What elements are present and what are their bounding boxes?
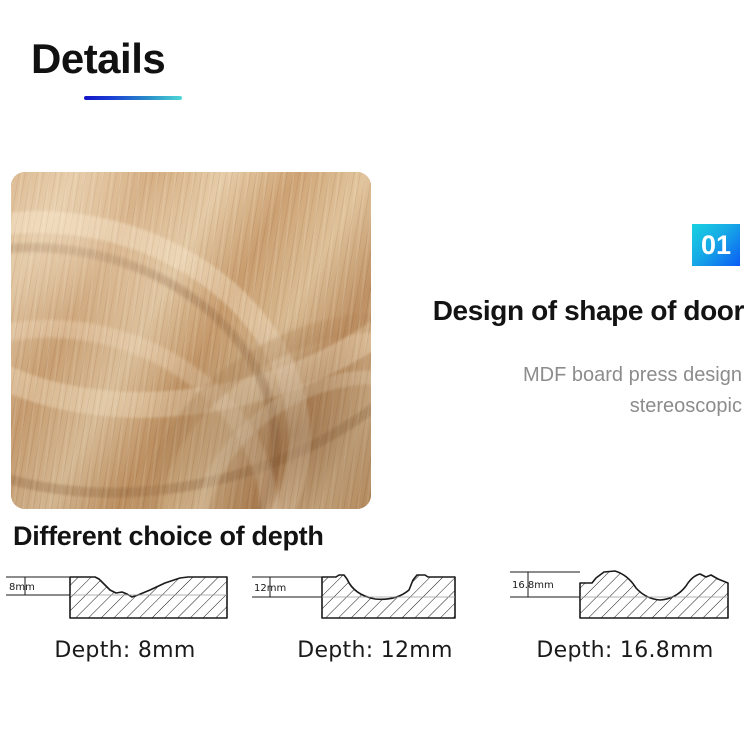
title-underline-accent — [84, 96, 182, 100]
details-page: Details 01 Design of shape of door MDF b… — [0, 0, 750, 750]
depth-option-16-8mm: 16.8mm Depth: 16.8mm — [500, 566, 750, 676]
depth-profile-svg-8mm: 8mm — [0, 566, 250, 634]
wood-shading-overlay — [11, 172, 371, 509]
depth-profile-diagram-16-8mm: 16.8mm — [500, 566, 750, 634]
depth-options-row: 8mm Depth: 8mm — [0, 566, 750, 676]
depth-caption-16-8mm: Depth: 16.8mm — [500, 638, 750, 663]
depth-dimension-label-8mm: 8mm — [9, 582, 35, 593]
depth-profile-svg-16-8mm: 16.8mm — [500, 566, 750, 634]
feature-subtitle: MDF board press design stereoscopic — [322, 360, 742, 422]
depth-option-8mm: 8mm Depth: 8mm — [0, 566, 250, 676]
feature-subtitle-line-2: stereoscopic — [322, 391, 742, 422]
depth-dimension-label-16-8mm: 16.8mm — [512, 580, 554, 591]
depth-profile-shape-16-8mm — [580, 571, 728, 618]
depth-profile-shape-12mm — [322, 575, 455, 618]
depth-option-12mm: 12mm Depth: 12mm — [250, 566, 500, 676]
feature-number-badge: 01 — [692, 224, 740, 266]
depth-caption-12mm: Depth: 12mm — [250, 638, 500, 663]
depth-profile-diagram-8mm: 8mm — [0, 566, 250, 634]
depth-profile-svg-12mm: 12mm — [250, 566, 500, 634]
door-panel-image — [11, 172, 371, 509]
depth-caption-8mm: Depth: 8mm — [0, 638, 250, 663]
depth-profile-diagram-12mm: 12mm — [250, 566, 500, 634]
depth-profile-shape-8mm — [70, 577, 227, 618]
depth-section-heading: Different choice of depth — [13, 521, 324, 552]
page-title: Details — [31, 37, 165, 81]
feature-subtitle-line-1: MDF board press design — [523, 364, 742, 386]
feature-heading: Design of shape of door — [324, 294, 744, 328]
depth-dimension-label-12mm: 12mm — [254, 583, 286, 594]
